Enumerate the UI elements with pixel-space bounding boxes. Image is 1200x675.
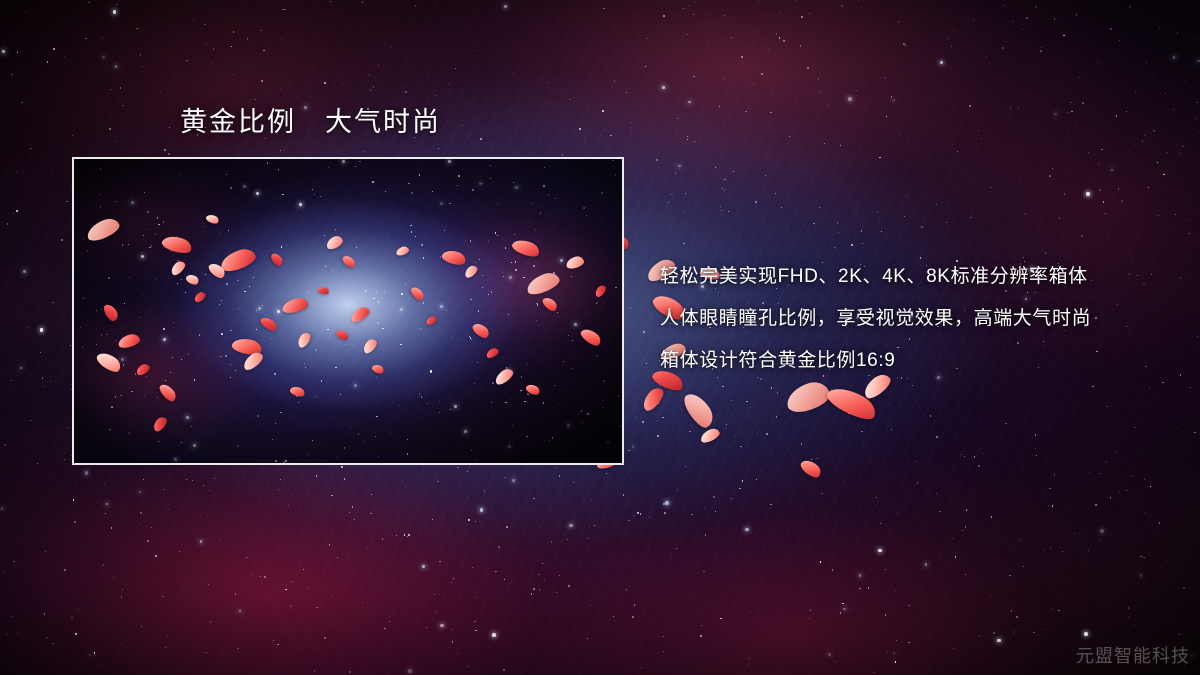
description-line-2: 人体眼睛瞳孔比例，享受视觉效果，高端大气时尚	[660, 298, 1180, 340]
page-title: 黄金比例 大气时尚	[180, 105, 441, 139]
nebula-photo-frame	[72, 157, 624, 465]
presentation-slide: 黄金比例 大气时尚 轻松完美实现FHD、2K、4K、8K标准分辨率箱体 人体眼睛…	[0, 0, 1200, 675]
description-line-3: 箱体设计符合黄金比例16:9	[660, 340, 1180, 382]
frame-vignette	[74, 159, 622, 463]
description-text-block: 轻松完美实现FHD、2K、4K、8K标准分辨率箱体 人体眼睛瞳孔比例，享受视觉效…	[660, 256, 1180, 382]
company-watermark: 元盟智能科技	[1076, 645, 1190, 667]
description-line-1: 轻松完美实现FHD、2K、4K、8K标准分辨率箱体	[660, 256, 1180, 298]
